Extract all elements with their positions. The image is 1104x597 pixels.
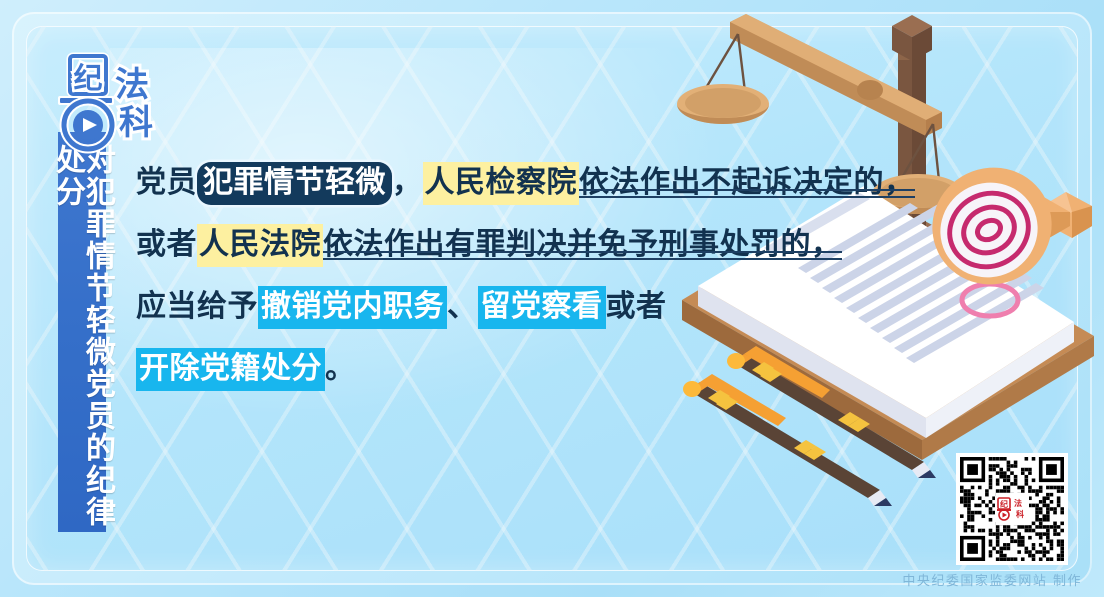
line3-highlight-cyan-2: 留党察看 <box>478 286 606 329</box>
svg-text:纪: 纪 <box>1000 499 1008 509</box>
logo-char-1: 法 <box>115 65 149 105</box>
line3-seg-c: 、 <box>447 289 478 324</box>
svg-text:法: 法 <box>1014 498 1022 508</box>
line3-seg-e: 或者 <box>606 289 667 324</box>
line2-underlined: 依法作出有罪判决并免予刑事处罚的， <box>323 227 842 262</box>
line3-highlight-cyan-1: 撤销党内职务 <box>258 286 447 329</box>
text-line-4: 开除党籍处分。 <box>136 338 866 400</box>
line2-seg-a: 或者 <box>136 227 197 262</box>
brand-logo[interactable]: 纪 法 科 <box>52 52 164 162</box>
line1-seg-a: 党员 <box>136 165 197 200</box>
text-line-3: 应当给予撤销党内职务、留党察看或者 <box>136 276 866 338</box>
text-line-2: 或者人民法院依法作出有罪判决并免予刑事处罚的， <box>136 214 866 276</box>
vertical-title-banner: 对犯罪情节轻微党员的纪律处分 <box>58 132 106 532</box>
footer-credit: 中央纪委国家监委网站 制作 <box>902 570 1082 589</box>
line1-seg-c: ， <box>392 165 423 200</box>
line1-highlight-yellow: 人民检察院 <box>423 162 580 205</box>
line4-highlight-cyan: 开除党籍处分 <box>136 348 325 391</box>
svg-text:科: 科 <box>1016 509 1024 519</box>
qr-code[interactable]: 纪 法 科 <box>956 453 1068 565</box>
main-text-block: 党员犯罪情节轻微，人民检察院依法作出不起诉决定的， 或者人民法院依法作出有罪判决… <box>136 152 866 400</box>
logo-char-3: 科 <box>119 103 153 143</box>
line4-seg-b: 。 <box>325 351 356 386</box>
line1-underlined: 依法作出不起诉决定的， <box>579 165 915 200</box>
line1-highlight-navy: 犯罪情节轻微 <box>197 162 392 205</box>
text-line-1: 党员犯罪情节轻微，人民检察院依法作出不起诉决定的， <box>136 152 866 214</box>
poster-canvas: 纪 法 科 对犯罪情节轻微党员的纪律处分 党员犯罪情节轻微，人民检察院依法作出不… <box>0 0 1104 597</box>
line3-seg-a: 应当给予 <box>136 289 258 324</box>
vertical-title-text: 对犯罪情节轻微党员的纪律处分 <box>52 144 112 532</box>
logo-char-0: 纪 <box>73 61 102 95</box>
line2-highlight-yellow: 人民法院 <box>197 224 323 267</box>
qr-center-logo: 纪 法 科 <box>995 496 1029 522</box>
